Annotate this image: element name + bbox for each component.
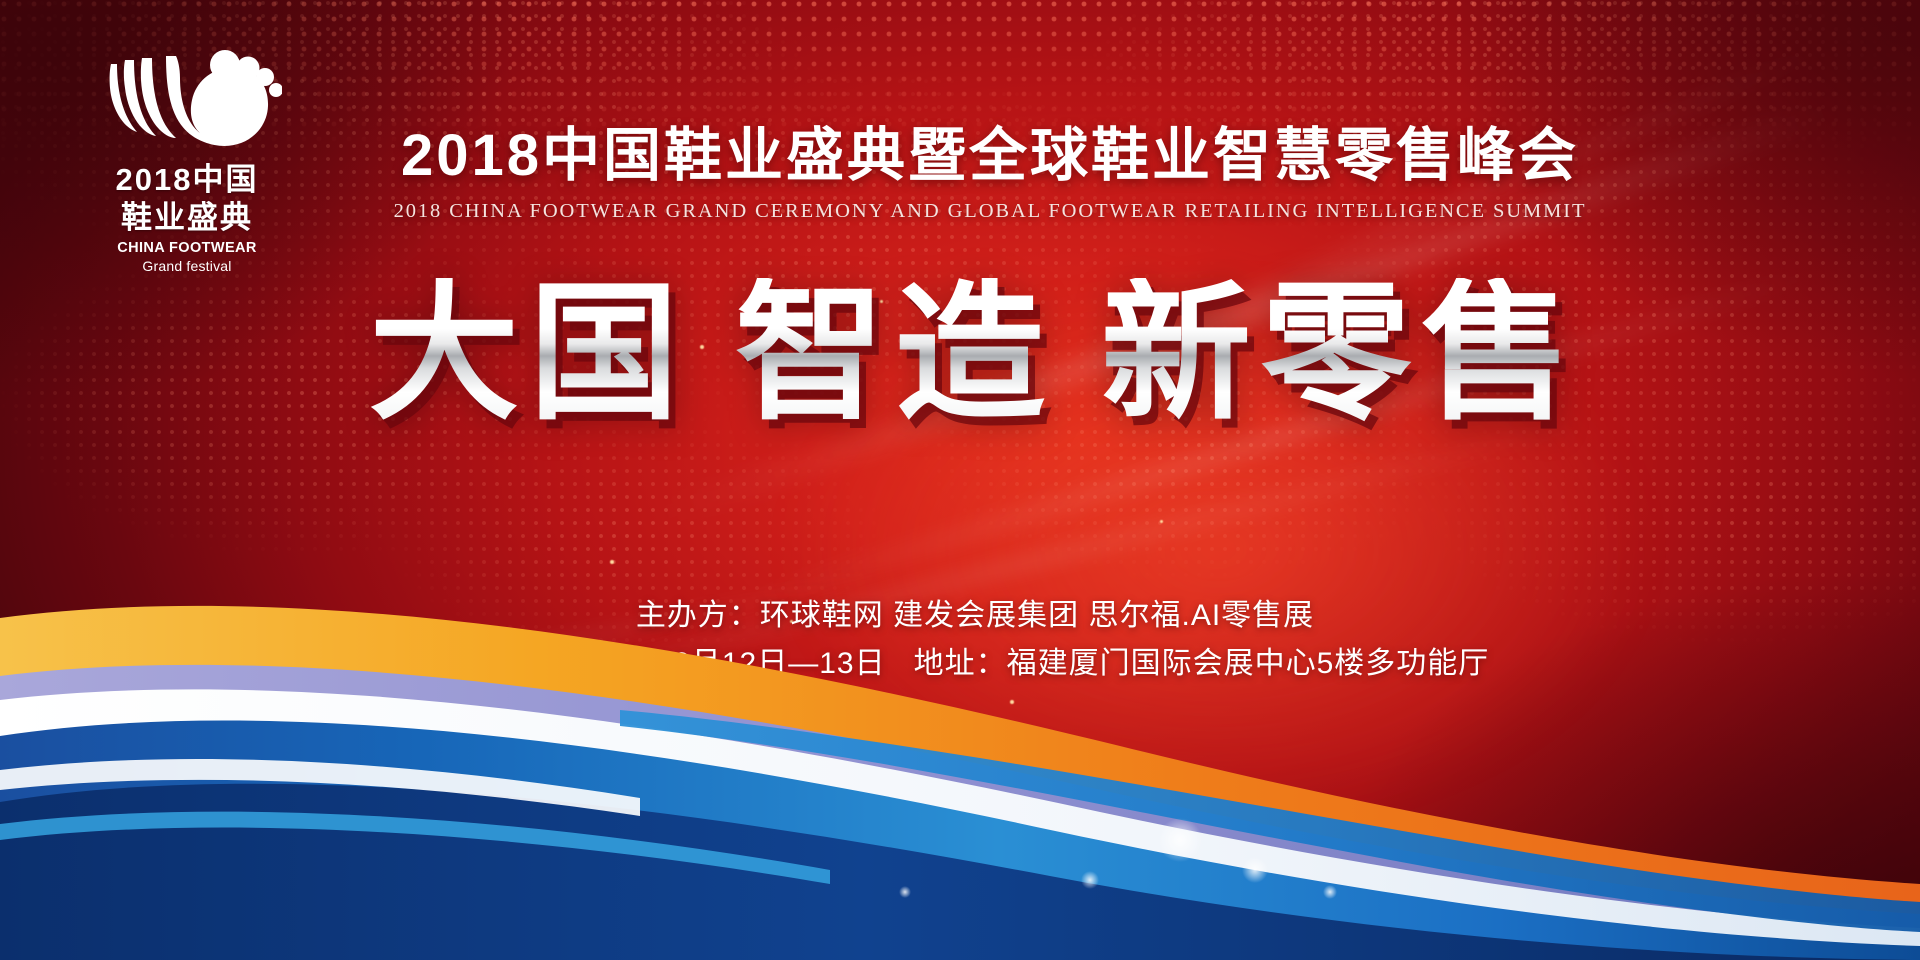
slogan-part-1: 大国 — [369, 269, 689, 437]
bubble — [1081, 871, 1099, 889]
event-slogan: 大国智造新零售 — [0, 278, 1920, 428]
logo-en-line1: CHINA FOOTWEAR — [92, 240, 282, 256]
event-title-chinese: 2018中国鞋业盛典暨全球鞋业智慧零售峰会 — [0, 108, 1920, 192]
sparkle — [1160, 520, 1163, 523]
bottom-ribbon-decoration — [0, 540, 1920, 960]
bubble — [1158, 818, 1202, 862]
slogan-part-2: 智造 — [735, 269, 1055, 437]
bubble — [899, 886, 911, 898]
slogan-part-3: 新零售 — [1101, 269, 1581, 437]
bubble — [1323, 885, 1337, 899]
poster-canvas: 2018中国 鞋业盛典 CHINA FOOTWEAR Grand festiva… — [0, 0, 1920, 960]
event-title-english: 2018 CHINA FOOTWEAR GRAND CEREMONY AND G… — [0, 200, 1920, 223]
bubble — [1242, 857, 1268, 883]
logo-en-line2: Grand festival — [92, 258, 282, 274]
